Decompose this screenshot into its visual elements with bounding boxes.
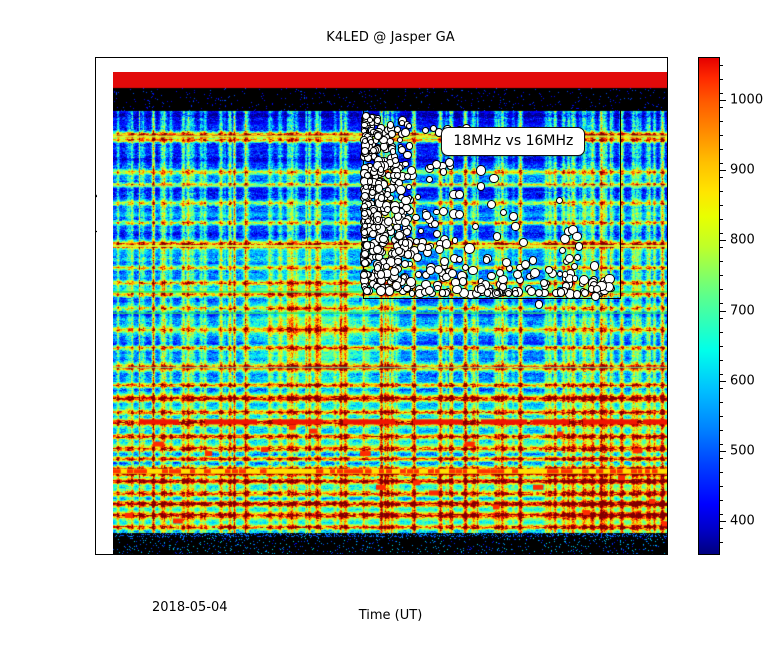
scatter-point [572, 232, 582, 242]
scatter-point [540, 279, 548, 287]
scatter-point [487, 272, 496, 281]
colorbar-tick-minor [719, 261, 723, 262]
scatter-point [459, 277, 467, 285]
colorbar[interactable]: 4005006007008009001000 [698, 57, 720, 555]
colorbar-tick-major [719, 100, 726, 101]
scatter-point [375, 184, 383, 192]
scatter-point [426, 176, 433, 183]
scatter-point [530, 268, 540, 278]
x-tick-minor [574, 554, 575, 555]
scatter-point [361, 122, 367, 128]
scatter-point [445, 158, 454, 167]
scatter-point [401, 218, 410, 227]
colorbar-tick-label: 800 [730, 233, 755, 248]
scatter-point [361, 250, 369, 258]
scatter-point [500, 209, 507, 216]
scatter-point [415, 194, 421, 200]
scatter-point [493, 232, 501, 240]
scatter-point [367, 117, 373, 123]
scatter-point [390, 267, 398, 275]
scatter-point [535, 300, 543, 308]
scatter-point [535, 289, 543, 297]
colorbar-tick-minor [719, 107, 723, 108]
y-tick-major [95, 89, 96, 90]
y-tick-major [95, 538, 96, 539]
scatter-point [418, 228, 424, 234]
scatter-point [417, 243, 426, 252]
scatter-point [361, 210, 368, 217]
scatter-point [565, 254, 575, 264]
scatter-point [394, 172, 401, 179]
x-axis-date-label: 2018-05-04 [152, 600, 228, 615]
colorbar-tick-minor [719, 247, 723, 248]
scatter-point [361, 147, 369, 155]
scatter-point [468, 266, 478, 276]
scatter-point [573, 290, 581, 298]
colorbar-tick-minor [719, 514, 723, 515]
scatter-point [502, 258, 511, 267]
scatter-point [591, 292, 601, 302]
colorbar-tick-label: 900 [730, 163, 755, 178]
spectrogram-figure: K4LED @ Jasper GA 18MHz vs 16MHz 1618202… [0, 0, 783, 656]
colorbar-tick-major [719, 170, 726, 171]
scatter-point [559, 247, 566, 254]
scatter-point [487, 200, 497, 210]
colorbar-tick-major [719, 451, 726, 452]
scatter-point [439, 289, 446, 296]
colorbar-tick-minor [719, 416, 723, 417]
colorbar-tick-minor [719, 233, 723, 234]
scatter-point [590, 261, 599, 270]
x-tick-minor [148, 554, 149, 555]
y-tick-major [95, 426, 96, 427]
scatter-point [455, 210, 464, 219]
colorbar-tick-minor [719, 430, 723, 431]
scatter-point [431, 220, 439, 228]
x-tick-minor [255, 554, 256, 555]
colorbar-tick-minor [719, 388, 723, 389]
colorbar-tick-minor [719, 472, 723, 473]
scatter-point [398, 146, 406, 154]
y-axis-label: Frequency (MHz) [95, 103, 98, 303]
y-tick-minor [95, 482, 96, 483]
scatter-point [455, 190, 464, 199]
x-tick-minor [644, 554, 645, 555]
scatter-point [521, 260, 530, 269]
scatter-point [401, 128, 410, 137]
scatter-point [374, 117, 381, 124]
colorbar-tick-minor [719, 444, 723, 445]
colorbar-tick-major [719, 311, 726, 312]
colorbar-tick-label: 600 [730, 373, 755, 388]
scatter-point [440, 257, 449, 266]
colorbar-tick-minor [719, 486, 723, 487]
scatter-point [401, 196, 410, 205]
x-tick-major [326, 554, 327, 555]
scatter-point [462, 264, 469, 271]
scatter-point [512, 290, 519, 297]
scatter-point [494, 290, 500, 296]
scatter-point [378, 166, 384, 172]
scatter-point [439, 207, 448, 216]
scatter-point [496, 269, 504, 277]
colorbar-tick-minor [719, 135, 723, 136]
scatter-point [406, 142, 414, 150]
scatter-point [387, 121, 394, 128]
x-tick-minor [538, 554, 539, 555]
colorbar-tick-label: 1000 [730, 93, 763, 108]
colorbar-tick-minor [719, 177, 723, 178]
x-tick-major [184, 554, 185, 555]
scatter-point [562, 271, 569, 278]
scatter-point [434, 285, 441, 292]
scatter-point [509, 212, 518, 221]
scatter-point [511, 222, 519, 230]
scatter-point [476, 165, 486, 175]
x-tick-minor [396, 554, 397, 555]
scatter-point [399, 120, 405, 126]
chart-title: K4LED @ Jasper GA [113, 30, 668, 45]
colorbar-tick-minor [719, 374, 723, 375]
colorbar-tick-minor [719, 149, 723, 150]
scatter-point [406, 184, 412, 190]
scatter-point [489, 174, 499, 184]
colorbar-tick-minor [719, 93, 723, 94]
scatter-point [448, 269, 458, 279]
scatter-point [484, 289, 491, 296]
scatter-point [412, 214, 419, 221]
scatter-point [361, 229, 368, 236]
colorbar-tick-minor [719, 303, 723, 304]
colorbar-tick-minor [719, 65, 723, 66]
scatter-point [574, 254, 581, 261]
colorbar-tick-minor [719, 289, 723, 290]
scatter-point [404, 250, 412, 258]
scatter-point [557, 288, 565, 296]
scatter-point [477, 182, 485, 190]
y-tick-major [95, 314, 96, 315]
scatter-point [396, 185, 406, 195]
scatter-point [413, 253, 422, 262]
annotation-label: 18MHz vs 16MHz [441, 127, 585, 156]
colorbar-tick-label: 500 [730, 443, 755, 458]
colorbar-tick-minor [719, 458, 723, 459]
scatter-point [440, 168, 447, 175]
colorbar-tick-minor [719, 163, 723, 164]
scatter-point [572, 275, 578, 281]
scatter-point [395, 247, 403, 255]
scatter-point [575, 242, 583, 250]
colorbar-tick-major [719, 240, 726, 241]
colorbar-tick-label: 700 [730, 303, 755, 318]
x-tick-minor [432, 554, 433, 555]
colorbar-tick-minor [719, 360, 723, 361]
scatter-point [452, 285, 461, 294]
scatter-point [383, 263, 390, 270]
colorbar-tick-minor [719, 275, 723, 276]
colorbar-tick-minor [719, 219, 723, 220]
colorbar-tick-minor [719, 121, 723, 122]
colorbar-tick-minor [719, 346, 723, 347]
plot-area[interactable]: 18MHz vs 16MHz 1618202224 Frequency (MHz… [95, 57, 668, 555]
scatter-point [377, 270, 386, 279]
colorbar-tick-minor [719, 528, 723, 529]
x-tick-minor [290, 554, 291, 555]
x-tick-minor [503, 554, 504, 555]
scatter-point [385, 286, 394, 295]
scatter-point [472, 223, 479, 230]
scatter-point [519, 238, 528, 247]
colorbar-tick-minor [719, 542, 723, 543]
scatter-point [403, 228, 411, 236]
scatter-point [415, 271, 422, 278]
scatter-point [375, 216, 382, 223]
colorbar-tick-minor [719, 402, 723, 403]
x-tick-major [609, 554, 610, 555]
scatter-point [456, 256, 463, 263]
scatter-point [379, 235, 388, 244]
scatter-point [394, 258, 401, 265]
colorbar-tick-major [719, 521, 726, 522]
scatter-point [373, 245, 382, 254]
x-tick-major [467, 554, 468, 555]
scatter-point [409, 290, 416, 297]
colorbar-tick-minor [719, 191, 723, 192]
scatter-point [370, 147, 377, 154]
scatter-point [363, 287, 371, 295]
colorbar-tick-label: 400 [730, 513, 755, 528]
scatter-point [529, 256, 537, 264]
colorbar-tick-minor [719, 332, 723, 333]
scatter-point [545, 266, 553, 274]
scatter-point [391, 206, 400, 215]
colorbar-tick-minor [719, 318, 723, 319]
x-tick-minor [219, 554, 220, 555]
scatter-point [397, 137, 403, 143]
scatter-point [464, 243, 474, 253]
x-tick-minor [361, 554, 362, 555]
scatter-point [556, 197, 563, 204]
scatter-point [427, 164, 433, 170]
colorbar-tick-minor [719, 79, 723, 80]
y-tick-minor [95, 370, 96, 371]
colorbar-tick-minor [719, 500, 723, 501]
scatter-point [384, 206, 391, 213]
spectrogram-canvas[interactable]: 18MHz vs 16MHz [113, 72, 668, 555]
scatter-point [452, 237, 458, 243]
scatter-point [395, 231, 404, 240]
scatter-point [422, 127, 429, 134]
colorbar-tick-minor [719, 205, 723, 206]
scatter-point [442, 239, 452, 249]
scatter-point [422, 211, 430, 219]
colorbar-tick-major [719, 381, 726, 382]
